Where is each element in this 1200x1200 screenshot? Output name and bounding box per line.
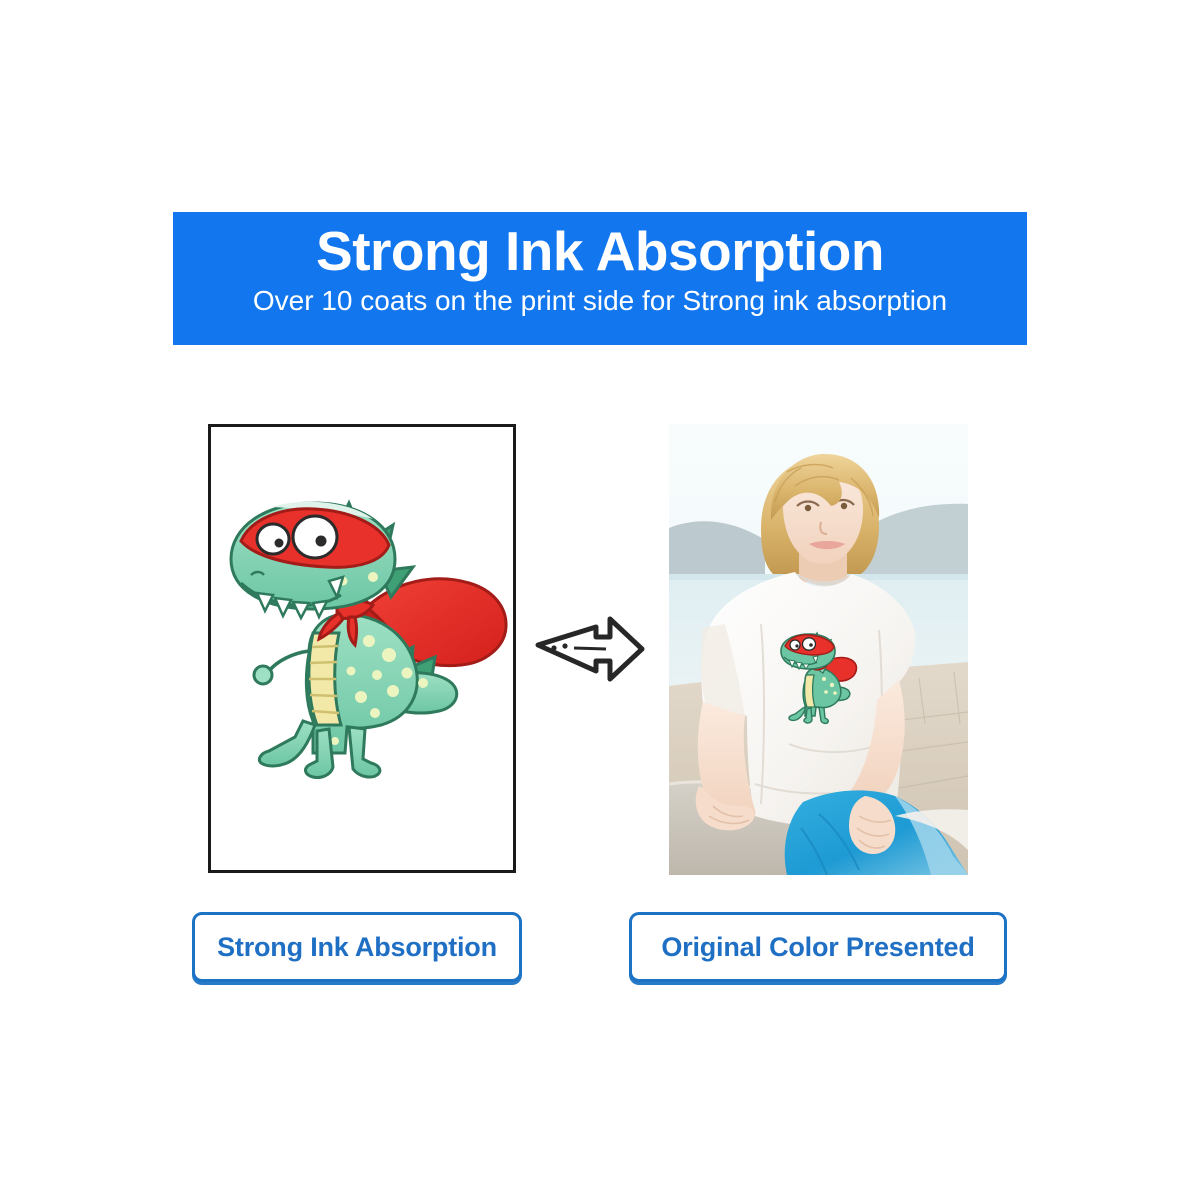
dino-legs bbox=[259, 721, 379, 778]
dino-eye-right bbox=[293, 516, 337, 558]
dino-eye-left bbox=[257, 524, 289, 554]
banner-subtitle: Over 10 coats on the print side for Stro… bbox=[173, 284, 1027, 318]
dino-left-arm bbox=[254, 651, 309, 684]
tshirt-dino-print bbox=[777, 629, 863, 725]
infographic-page: Strong Ink Absorption Over 10 coats on t… bbox=[0, 0, 1200, 1200]
printed-transfer-sheet bbox=[208, 424, 516, 873]
caption-right-label: Original Color Presented bbox=[661, 932, 974, 963]
caption-strong-ink-absorption[interactable]: Strong Ink Absorption bbox=[192, 912, 522, 982]
finished-tshirt-photo bbox=[669, 424, 968, 875]
headline-banner: Strong Ink Absorption Over 10 coats on t… bbox=[173, 212, 1027, 345]
caption-left-label: Strong Ink Absorption bbox=[217, 932, 497, 963]
arrow-right-icon bbox=[534, 615, 646, 683]
banner-title: Strong Ink Absorption bbox=[173, 220, 1027, 282]
dinosaur-artwork bbox=[217, 485, 513, 815]
caption-original-color-presented[interactable]: Original Color Presented bbox=[629, 912, 1007, 982]
